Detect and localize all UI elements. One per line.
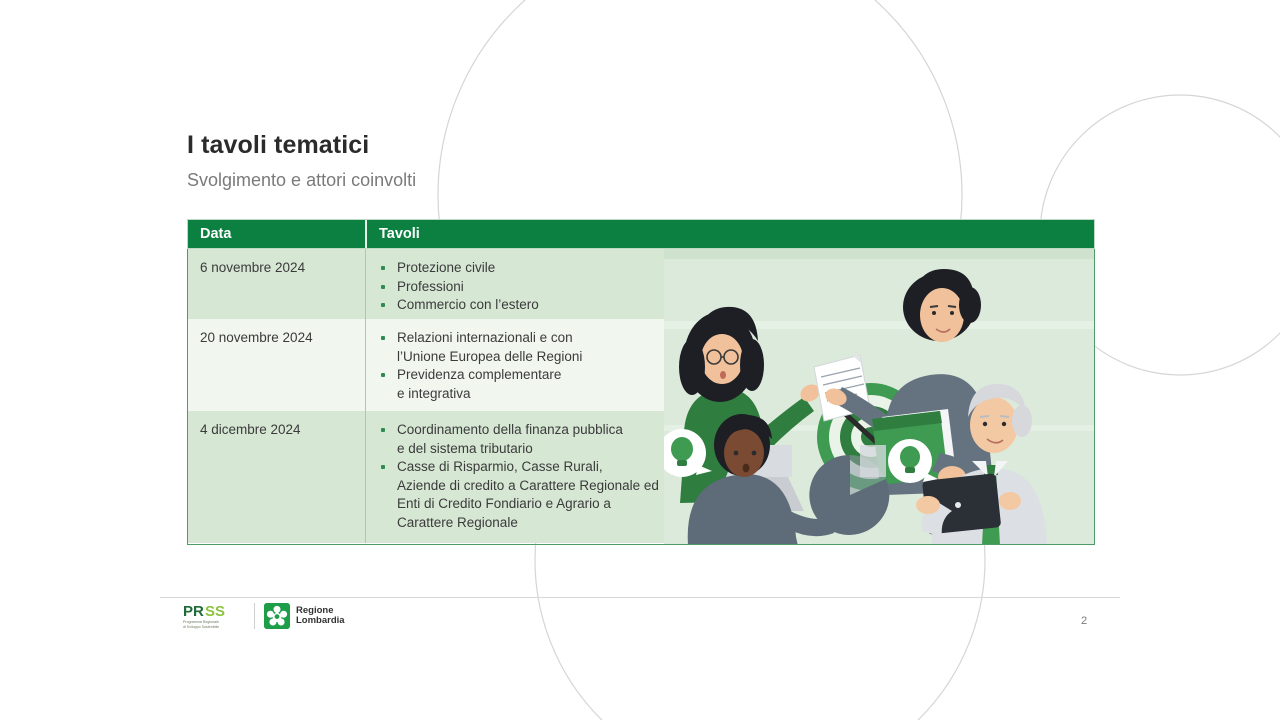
page-number: 2 [1081, 615, 1087, 627]
cell-topics: Coordinamento della finanza pubblica e d… [366, 411, 1094, 543]
prss-logo-acronym: PR [183, 603, 204, 620]
list-item: Casse di Risparmio, Casse Rurali, Aziend… [377, 458, 1094, 532]
rosa-camuna-icon [264, 603, 290, 629]
cell-topics: Relazioni internazionali e con l’Unione … [366, 319, 1094, 411]
regione-lombardia-wordmark: Regione Lombardia [296, 606, 345, 627]
table-row: 6 novembre 2024 Protezione civile Profes… [188, 249, 1094, 319]
list-item: Previdenza complementare e integrativa [377, 366, 1094, 403]
cell-date: 20 novembre 2024 [188, 319, 366, 411]
regione-lombardia-logo: Regione Lombardia [264, 603, 345, 629]
thematic-tables-table: Data Tavoli [187, 219, 1095, 544]
prss-logo: PR SS Programma Regionale di Sviluppo So… [183, 601, 245, 631]
cell-date: 4 dicembre 2024 [188, 411, 366, 543]
list-item: Relazioni internazionali e con l’Unione … [377, 329, 1094, 366]
page-subtitle: Svolgimento e attori coinvolti [187, 170, 416, 191]
table-row: 20 novembre 2024 Relazioni internazional… [188, 319, 1094, 411]
list-item: Coordinamento della finanza pubblica e d… [377, 421, 1094, 458]
logo-divider [254, 603, 255, 629]
footer-logos: PR SS Programma Regionale di Sviluppo So… [183, 601, 345, 631]
list-item: Commercio con l’estero [377, 296, 1094, 315]
list-item: Protezione civile [377, 259, 1094, 278]
prss-logo-acronym-tail: SS [205, 603, 225, 620]
page-title: I tavoli tematici [187, 131, 369, 160]
table-row: 4 dicembre 2024 Coordinamento della fina… [188, 411, 1094, 543]
prss-logo-subtitle-2: di Sviluppo Sostenibile [183, 625, 219, 629]
footer-divider [160, 597, 1120, 598]
cell-topics: Protezione civile Professioni Commercio … [366, 249, 1094, 319]
cell-date: 6 novembre 2024 [188, 249, 366, 319]
column-header-data: Data [188, 220, 367, 248]
table-header-row: Data Tavoli [187, 219, 1095, 249]
prss-logo-subtitle-1: Programma Regionale [183, 620, 219, 624]
table-body: 6 novembre 2024 Protezione civile Profes… [187, 249, 1095, 545]
column-header-tavoli: Tavoli [367, 220, 1094, 248]
list-item: Professioni [377, 278, 1094, 297]
regione-line-2: Lombardia [296, 616, 345, 627]
